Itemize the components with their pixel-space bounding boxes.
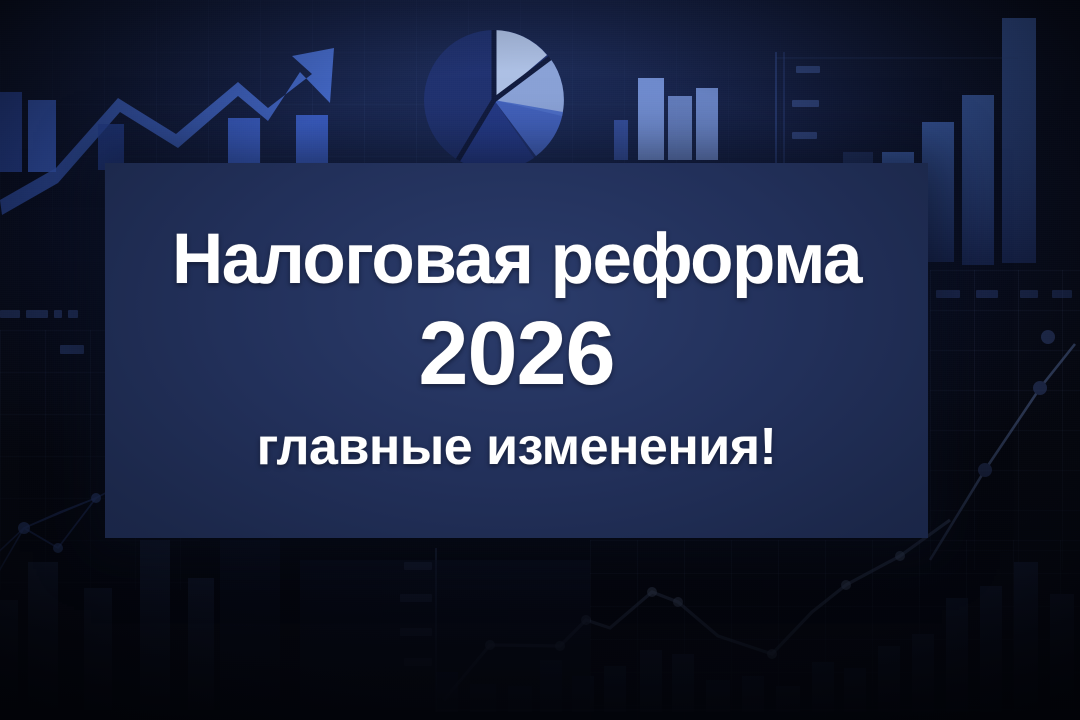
headline-line-1: Налоговая реформа: [172, 224, 861, 295]
headline-year: 2026: [418, 309, 614, 399]
headline-panel: Налоговая реформа 2026 главные изменения…: [105, 163, 928, 538]
headline-line-3: главные изменения!: [257, 421, 777, 473]
title-card: Налоговая реформа 2026 главные изменения…: [0, 0, 1080, 720]
